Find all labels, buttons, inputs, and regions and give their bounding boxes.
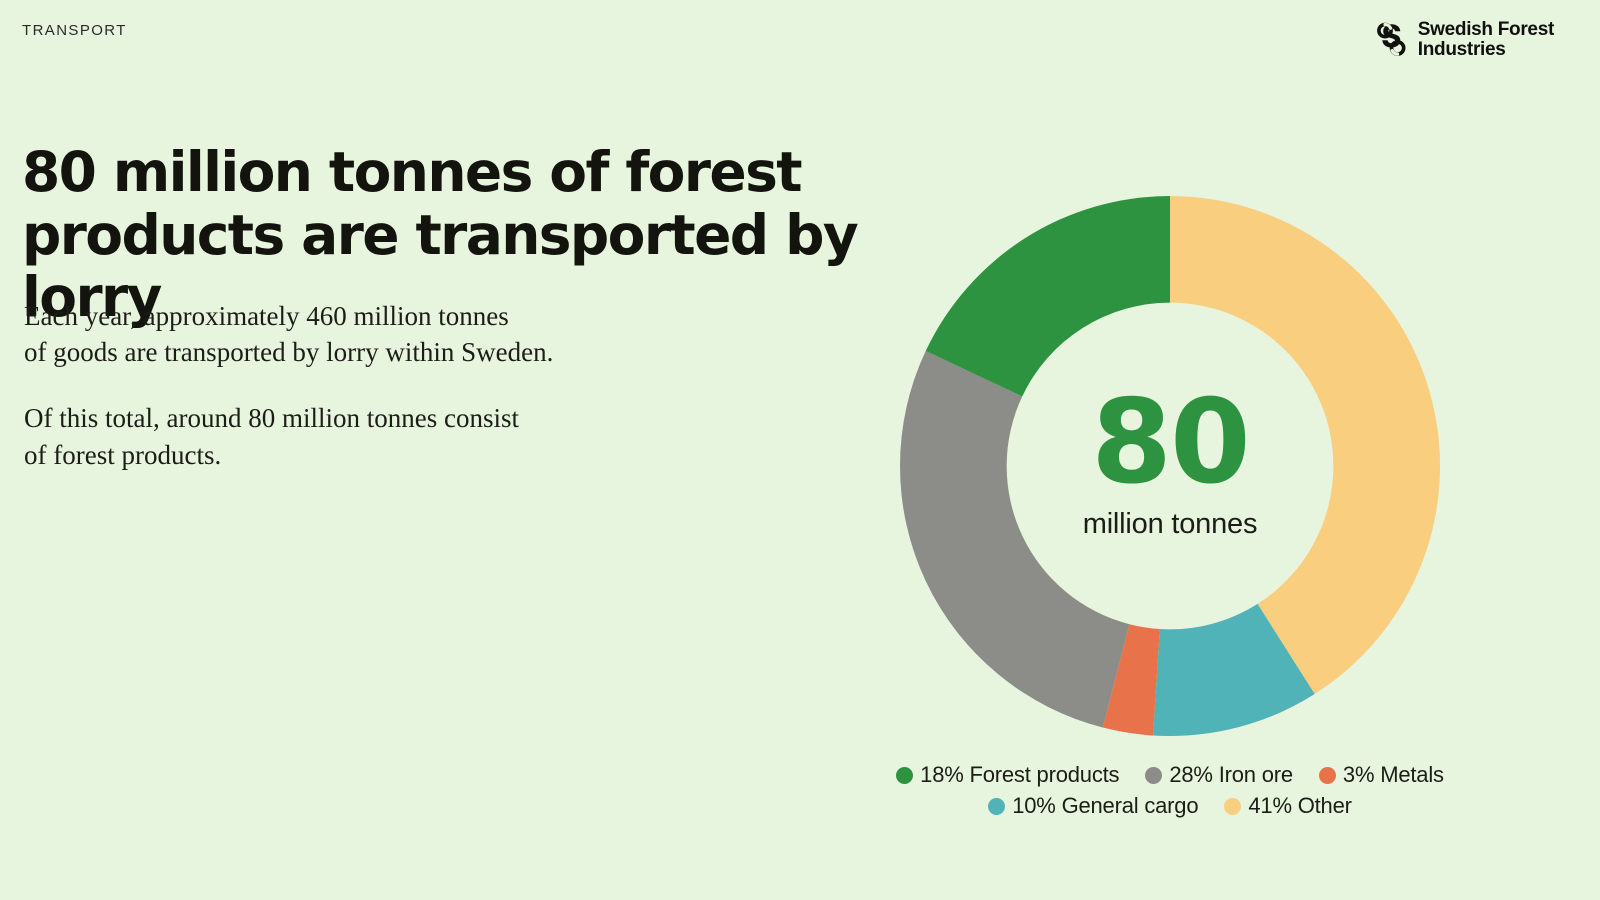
legend-row: 10% General cargo41% Other bbox=[860, 793, 1480, 819]
swedish-forest-industries-s-icon bbox=[1377, 22, 1411, 58]
legend-item-general-cargo[interactable]: 10% General cargo bbox=[988, 793, 1198, 819]
body-copy: Each year, approximately 460 million ton… bbox=[24, 298, 664, 473]
body-paragraph-2: Of this total, around 80 million tonnes … bbox=[24, 400, 664, 472]
legend-item-other[interactable]: 41% Other bbox=[1224, 793, 1351, 819]
body-paragraph-1-line-1: Each year, approximately 460 million ton… bbox=[24, 298, 664, 334]
legend-label-metals: 3% Metals bbox=[1343, 762, 1444, 788]
donut-slice-other[interactable] bbox=[1170, 196, 1440, 694]
donut-slice-forest-products[interactable] bbox=[926, 196, 1170, 396]
donut-slice-iron-ore[interactable] bbox=[900, 351, 1129, 727]
donut-chart-svg bbox=[900, 196, 1440, 736]
headline-line-1: 80 million tonnes of forest bbox=[22, 141, 902, 204]
legend-swatch-metals bbox=[1319, 767, 1336, 784]
body-paragraph-2-line-2: of forest products. bbox=[24, 437, 664, 473]
donut-chart: 80 million tonnes bbox=[900, 196, 1440, 736]
logo-line-1: Swedish Forest bbox=[1418, 20, 1554, 40]
body-paragraph-2-line-1: Of this total, around 80 million tonnes … bbox=[24, 400, 664, 436]
body-paragraph-1-line-2: of goods are transported by lorry within… bbox=[24, 334, 664, 370]
donut-slices bbox=[900, 196, 1440, 736]
legend-label-iron-ore: 28% Iron ore bbox=[1169, 762, 1293, 788]
chart-legend: 18% Forest products28% Iron ore3% Metals… bbox=[860, 762, 1480, 824]
legend-item-iron-ore[interactable]: 28% Iron ore bbox=[1145, 762, 1293, 788]
legend-swatch-general-cargo bbox=[988, 798, 1005, 815]
legend-label-general-cargo: 10% General cargo bbox=[1012, 793, 1198, 819]
legend-label-other: 41% Other bbox=[1248, 793, 1351, 819]
legend-swatch-forest-products bbox=[896, 767, 913, 784]
body-paragraph-1: Each year, approximately 460 million ton… bbox=[24, 298, 664, 370]
logo-line-2: Industries bbox=[1418, 40, 1554, 60]
brand-logo: Swedish Forest Industries bbox=[1377, 20, 1554, 60]
category-eyebrow: TRANSPORT bbox=[22, 22, 127, 39]
legend-row: 18% Forest products28% Iron ore3% Metals bbox=[860, 762, 1480, 788]
legend-label-forest-products: 18% Forest products bbox=[920, 762, 1119, 788]
legend-item-forest-products[interactable]: 18% Forest products bbox=[896, 762, 1119, 788]
legend-swatch-iron-ore bbox=[1145, 767, 1162, 784]
legend-item-metals[interactable]: 3% Metals bbox=[1319, 762, 1444, 788]
legend-swatch-other bbox=[1224, 798, 1241, 815]
